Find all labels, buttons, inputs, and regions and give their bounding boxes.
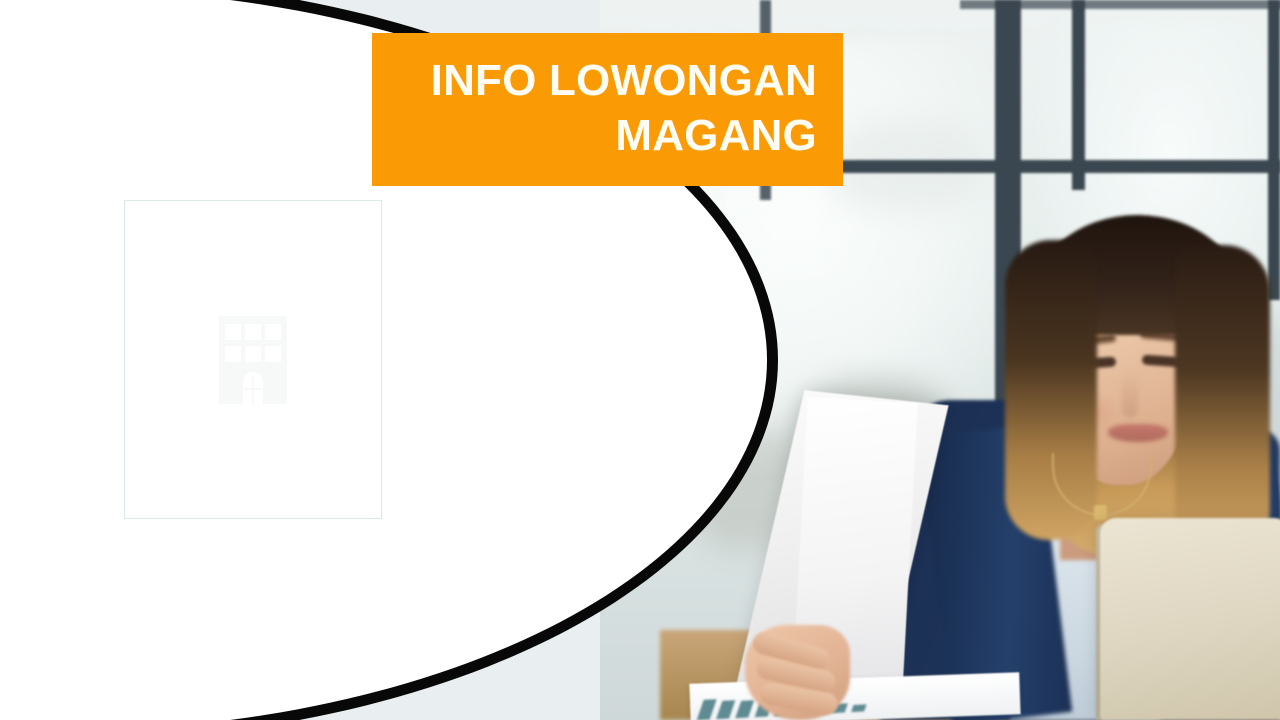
- banner-title-line-2: MAGANG: [615, 108, 817, 163]
- banner-title-line-1: INFO LOWONGAN: [431, 53, 817, 108]
- slide-canvas: INFO LOWONGAN MAGANG: [0, 0, 1280, 720]
- laptop: [1100, 518, 1280, 720]
- lips: [1108, 424, 1168, 442]
- building-icon: [217, 314, 289, 406]
- window-mullion-horizontal: [960, 0, 1280, 9]
- logo-image-placeholder[interactable]: [124, 200, 382, 519]
- window-mullion-vertical: [1268, 0, 1280, 300]
- info-lowongan-magang-banner: INFO LOWONGAN MAGANG: [372, 33, 843, 186]
- nose: [1122, 372, 1138, 418]
- necklace-pendant: [1094, 505, 1107, 520]
- hair-strand-right: [1175, 245, 1270, 555]
